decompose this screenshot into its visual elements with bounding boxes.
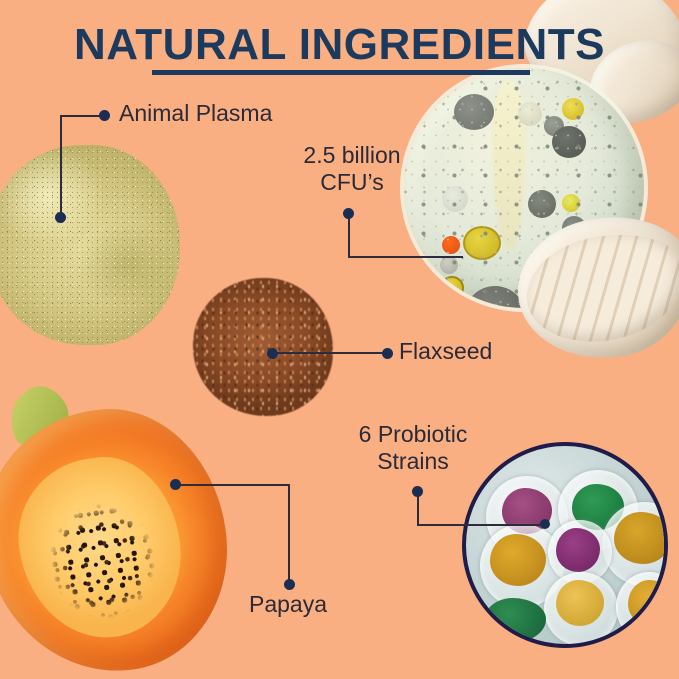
leader-line-animal-plasma-vertical (60, 116, 62, 220)
leader-line-cfu-horizontal (348, 256, 463, 258)
callout-label-flaxseed: Flaxseed (399, 338, 492, 365)
leader-line-cfu-vertical (348, 216, 350, 258)
callout-label-animal-plasma: Animal Plasma (119, 100, 272, 127)
growth-amber-2 (490, 534, 546, 586)
leader-line-papaya-vertical (288, 484, 290, 584)
colony-yellow-right (562, 194, 580, 212)
leader-line-probiotic-vertical (417, 494, 419, 526)
leader-line-probiotic-horizontal (417, 524, 545, 526)
animal-plasma-powder-image (0, 145, 180, 345)
agar-streak (492, 80, 526, 250)
leader-dot-flaxseed-target (267, 348, 278, 359)
page-title: NATURAL INGREDIENTS (0, 20, 679, 70)
colony-pale (440, 256, 458, 274)
growth-purple-center (556, 528, 600, 572)
colony-gray-right (528, 190, 556, 218)
callout-label-cfu-count: 2.5 billion CFU’s (288, 142, 416, 196)
colony-gray-xl (464, 286, 526, 308)
infographic-canvas: NATURAL INGREDIENTS Animal Plasma 2.5 bi… (0, 0, 679, 679)
colony-gray-mid (544, 116, 564, 136)
leader-line-animal-plasma-horizontal (60, 115, 104, 117)
probiotic-well-plate-image (462, 442, 668, 648)
leader-dot-probiotic-label (412, 486, 423, 497)
papaya-half-image (0, 388, 236, 673)
leader-dot-animal-plasma-target (55, 212, 66, 223)
colony-yellow-small (440, 276, 464, 300)
callout-label-papaya: Papaya (249, 591, 327, 618)
growth-amber-4 (628, 580, 668, 626)
growth-amber-1 (614, 512, 668, 564)
colony-yellow (463, 226, 501, 260)
leader-dot-probiotic-target (540, 519, 550, 529)
colony-white (442, 186, 468, 212)
colony-yellow-top (562, 98, 584, 120)
colony-dark (552, 126, 586, 158)
growth-green-2 (484, 598, 546, 642)
colony-cream (518, 102, 542, 126)
callout-label-probiotic-strains: 6 Probiotic Strains (348, 421, 478, 475)
colony-orange (442, 236, 460, 254)
leader-dot-papaya-target (170, 479, 181, 490)
growth-amber-3 (556, 580, 604, 626)
leader-line-flaxseed (272, 352, 384, 354)
leader-line-papaya-horizontal (175, 484, 289, 486)
leader-dot-papaya-label (284, 579, 295, 590)
leader-dot-flaxseed-label (382, 348, 393, 359)
leader-dot-animal-plasma-label (99, 110, 110, 121)
colony-gray-large (454, 94, 494, 130)
leader-dot-cfu-label (343, 208, 354, 219)
title-underline (152, 70, 530, 75)
